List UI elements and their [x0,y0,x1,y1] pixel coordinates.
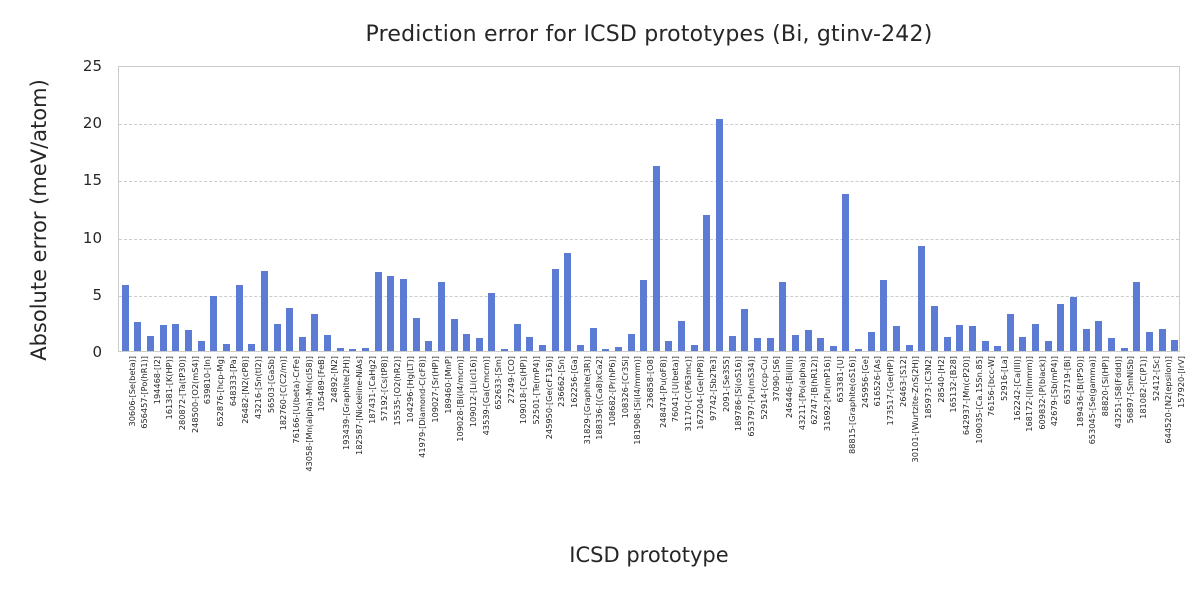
x-tick-label: 189436-[B(tP50)] [1076,356,1085,427]
bar [488,293,495,351]
bar [893,326,900,351]
x-tick-label: 248500-[O2(mS4)] [191,356,200,433]
bar [994,346,1001,351]
bar-series [119,67,1179,351]
x-tick-label: 161381-[K(HP)] [165,356,174,419]
x-tick-label: 653797-[Pu(mS34)] [747,356,756,437]
bar [451,319,458,351]
x-tick-label: 188336-[(Ca8)xCa2] [595,356,604,440]
bar [805,330,812,351]
bar [286,308,293,351]
x-tick-label: 109012-[Li(cI16)] [469,356,478,427]
x-tick-label: 26463-[S12] [899,356,908,407]
x-tick-label: 652876-[hcp-Mg] [216,356,225,427]
x-tick-label: 162242-[Ca(III)] [1013,356,1022,421]
bar [539,345,546,351]
x-tick-label: 88820-[Si(HP)] [1101,356,1110,416]
x-tick-label: 245956-[Ge] [861,356,870,408]
bar [1045,341,1052,351]
x-tick-label: 56897-[SmNiSb] [1126,356,1135,423]
bar [463,334,470,351]
x-tick-label: 26482-[N2(cP8)] [241,356,250,424]
x-tick-label: 109018-[Cs(HP)] [519,356,528,424]
bar [716,119,723,351]
x-tick-label: 182760-[C(C2/m)] [279,356,288,430]
bar [375,272,382,351]
x-tick-label: 105489-[FeB] [317,356,326,412]
bar [602,349,609,351]
x-tick-label: 181082-[C(P1)] [1139,356,1148,419]
x-tick-label: 57192-[Cs(tP8)] [380,356,389,421]
bar [665,341,672,351]
y-axis-tick-labels: 0510152025 [0,66,110,352]
bar [1057,304,1064,351]
bar [501,349,508,351]
x-tick-label: 37090-[S6] [772,356,781,402]
bar [703,215,710,351]
bar [931,306,938,351]
bar [842,194,849,351]
x-tick-label: 162256-[Ga] [570,356,579,408]
x-tick-label: 24892-[N2] [330,356,339,403]
x-tick-label: 108682-[Pr(hP6)] [608,356,617,426]
bar [1007,314,1014,351]
x-axis-label: ICSD prototype [118,543,1180,567]
bar [1133,282,1140,351]
bar [526,337,533,351]
y-tick-label: 25 [42,57,102,75]
x-tick-label: 2091-[Se3S5] [722,356,731,412]
x-tick-label: 616526-[As] [873,356,882,406]
bar [590,328,597,351]
bar [172,324,179,351]
bar [944,337,951,351]
bar [413,318,420,351]
x-tick-label: 43539-[Ga(Cmcm)] [482,356,491,435]
x-tick-label: 104296-[Hg(LT)] [406,356,415,423]
bar [438,282,445,351]
x-tick-label: 193439-[Graphite(2H)] [342,356,351,450]
x-tick-label: 189786-[Si(oS16)] [734,356,743,431]
x-tick-label: 248474-[Pu(oF8)] [659,356,668,428]
x-tick-label: 108326-[Cr3Si] [621,356,630,418]
x-tick-label: 280872-[Ta(tP30)] [178,356,187,430]
bar [956,325,963,351]
bar [628,334,635,351]
bar [552,269,559,351]
x-tick-label: 653381-[U] [836,356,845,403]
bar [160,325,167,351]
x-tick-label: 27249-[CO] [507,356,516,404]
bar [349,349,356,351]
x-tick-label: 109035-[Ca.15Sn.85] [975,356,984,444]
x-tick-label: 62747-[B(hR12)] [810,356,819,425]
bar [400,279,407,351]
x-tick-label: 52914-[ccp-Cu] [760,356,769,419]
bar [1083,329,1090,351]
bar [855,349,862,351]
bar [741,309,748,351]
bar [767,338,774,351]
x-tick-label: 76041-[U(beta)] [671,356,680,422]
bar [830,346,837,351]
bar [425,341,432,351]
bar [1159,329,1166,351]
bar [868,332,875,351]
bar [134,322,141,351]
x-tick-label: 644520-[N2(epsilon)] [1164,356,1173,444]
bar [691,345,698,351]
x-tick-label: 653045-[Se(gamma)] [1088,356,1097,444]
x-tick-label: 30606-[Se(beta)] [128,356,137,426]
x-tick-label: 31170-[C(P63mc)] [684,356,693,431]
y-tick-label: 10 [42,229,102,247]
bar [982,341,989,351]
bar [577,345,584,351]
bar [185,330,192,351]
x-tick-label: 236858-[O8] [646,356,655,408]
bar [362,348,369,351]
x-tick-label: 182587-[Nickeline-NiAs] [355,356,364,455]
bar [514,324,521,351]
x-tick-label: 43216-[Sn(tI2)] [254,356,263,419]
x-tick-label: 56503-[GaSb] [267,356,276,413]
x-tick-label: 43211-[Po(alpha)] [798,356,807,430]
x-axis-tick-labels: 30606-[Se(beta)]656457-[Po(hR1)]194468-[… [118,356,1180,541]
x-tick-label: 648333-[Pa] [229,356,238,406]
chart-figure: Prediction error for ICSD prototypes (Bi… [0,0,1200,600]
x-tick-label: 157920-[IrV] [1177,356,1186,408]
y-tick-label: 5 [42,286,102,304]
x-tick-label: 109027-[Sr(HP)] [431,356,440,423]
bar [729,336,736,351]
x-tick-label: 168172-[I(Immm)] [1025,356,1034,432]
x-tick-label: 31692-[Pu(mP16)] [823,356,832,431]
bar [640,280,647,351]
bar [792,335,799,351]
x-tick-label: 246446-[Bi(III)] [785,356,794,418]
bar [1070,297,1077,351]
x-tick-label: 639810-[In] [203,356,212,404]
bar [299,337,306,351]
x-tick-label: 109028-[Bi(I4/mcm)] [456,356,465,442]
x-tick-label: 28540-[H2] [937,356,946,403]
x-tick-label: 181908-[Si(I4/mmm)] [633,356,642,445]
x-tick-label: 97742-[Sb2Te3] [709,356,718,421]
bar [147,336,154,351]
x-tick-label: 52412-[Sc] [1152,356,1161,401]
bar [311,314,318,351]
bar [918,246,925,351]
bar [1146,332,1153,351]
x-tick-label: 41979-[Diamond-C(cF8)] [418,356,427,458]
x-tick-label: 653719-[Bi] [1063,356,1072,405]
bar [122,285,129,351]
bar [754,338,761,351]
bar [236,285,243,351]
x-tick-label: 189460-[MnP] [444,356,453,414]
x-tick-label: 88815-[Graphite(oS16)] [848,356,857,454]
bar [476,338,483,351]
bar [223,344,230,351]
x-tick-label: 652633-[Sm] [494,356,503,410]
y-tick-label: 20 [42,114,102,132]
chart-title: Prediction error for ICSD prototypes (Bi… [118,22,1180,47]
bar [678,321,685,351]
x-tick-label: 43058-[Mn(alpha)-Mn(cI58)] [305,356,314,472]
x-tick-label: 15535-[O2(hR2)] [393,356,402,426]
bar [969,326,976,351]
bar [274,324,281,351]
x-tick-label: 609832-[P(black)] [1038,356,1047,430]
bar [1121,348,1128,351]
x-tick-label: 165132-[B28] [949,356,958,413]
bar [564,253,571,351]
bar [779,282,786,351]
x-tick-label: 187431-[CaHg2] [368,356,377,424]
y-tick-label: 15 [42,171,102,189]
x-tick-label: 642937-[Mn(cP20)] [962,356,971,435]
bar [1108,338,1115,351]
x-tick-label: 167204-[Ge(hP8)] [696,356,705,430]
bar [387,276,394,352]
x-tick-label: 31829-[Graphite(3R)] [583,356,592,444]
bar [198,341,205,351]
bar [615,347,622,351]
bar [1032,324,1039,351]
x-tick-label: 185973-[C3N2] [924,356,933,419]
bar [817,338,824,351]
x-tick-label: 30101-[Wurtzite-ZnS(2H)] [911,356,920,462]
bar [324,335,331,351]
x-tick-label: 236662-[Sn] [557,356,566,407]
x-tick-label: 656457-[Po(hR1)] [140,356,149,429]
bar [210,296,217,351]
x-tick-label: 173517-[Ge(HP)] [886,356,895,425]
bar [337,348,344,351]
x-tick-label: 76156-[bcc-W] [987,356,996,416]
x-tick-label: 245950-[Ge(cF136)] [545,356,554,439]
bar [1171,340,1178,351]
bar [1019,337,1026,351]
x-tick-label: 76166-[U(beta)-CrFe] [292,356,301,444]
x-tick-label: 52916-[La] [1000,356,1009,401]
bar [906,345,913,351]
x-tick-label: 194468-[I2] [153,356,162,404]
x-tick-label: 52501-[Te(mP4)] [532,356,541,425]
bar [1095,321,1102,351]
bar [653,166,660,351]
bar [261,271,268,351]
x-tick-label: 43251-[S8(Fddd)] [1114,356,1123,428]
y-tick-label: 0 [42,343,102,361]
x-tick-label: 42679-[Sb(mP4)] [1050,356,1059,426]
bar [880,280,887,351]
plot-area [118,66,1180,352]
bar [248,344,255,351]
